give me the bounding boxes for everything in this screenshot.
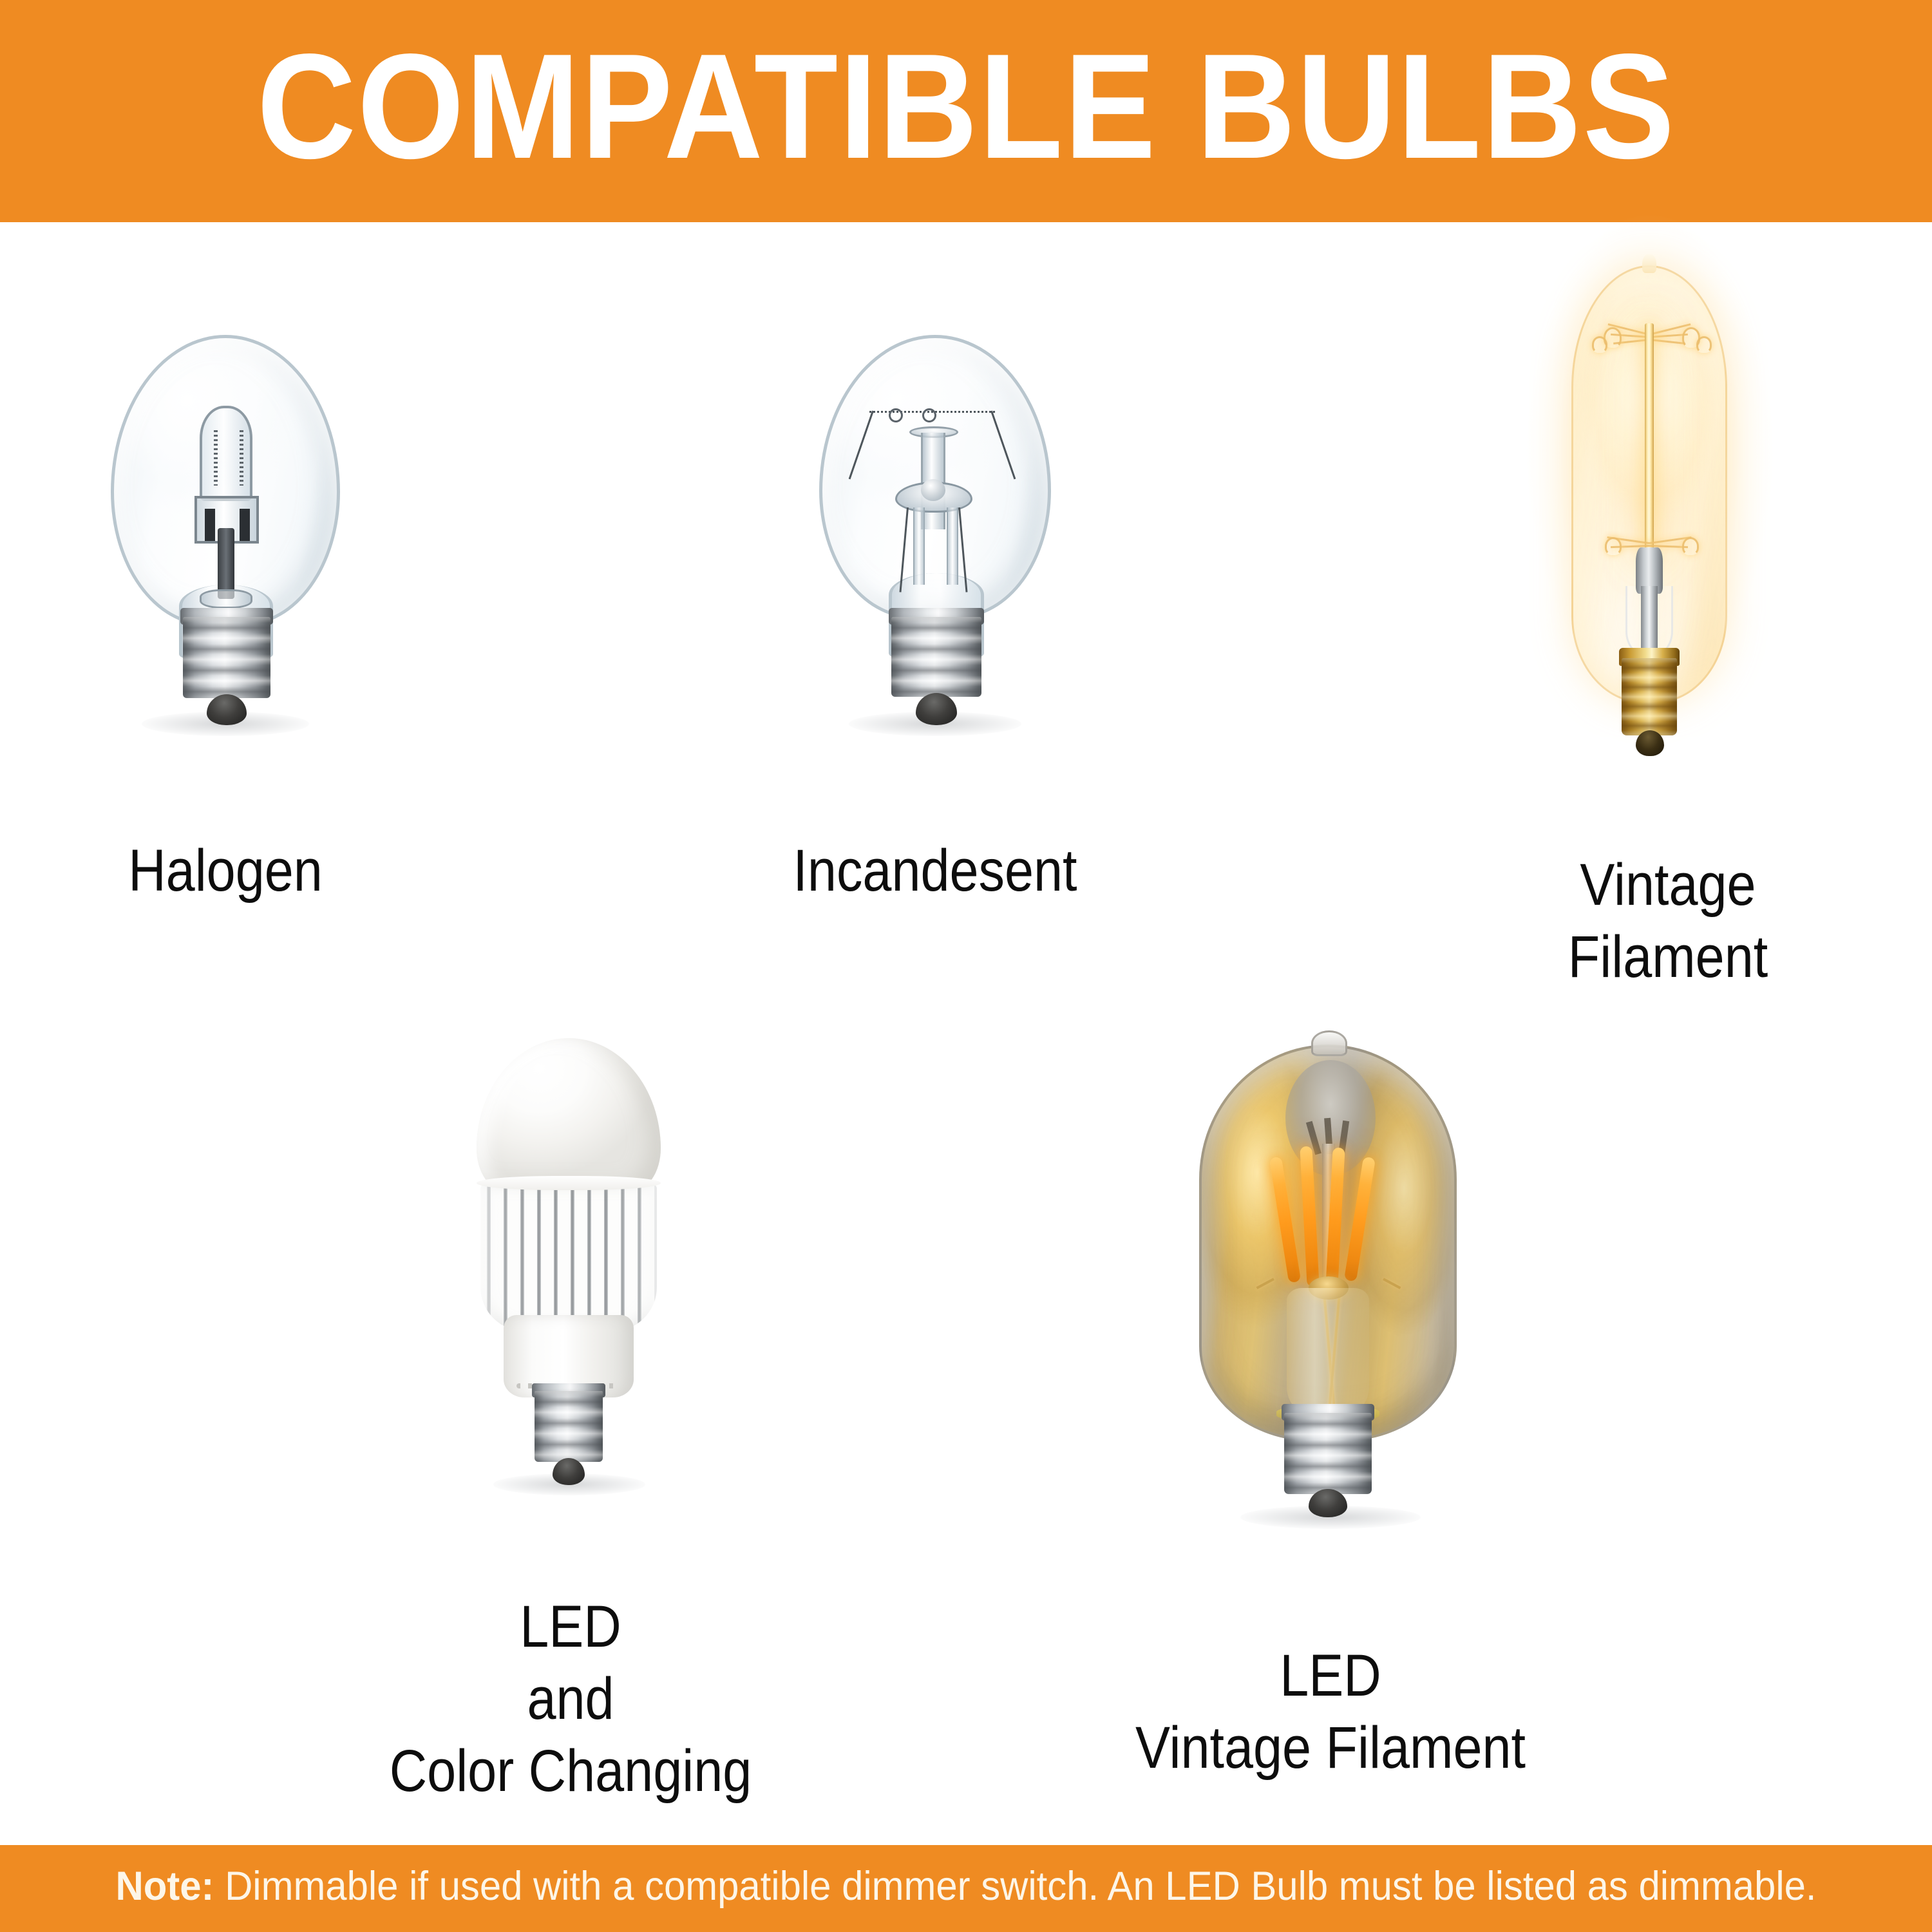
footer-note-label: Note: <box>115 1864 214 1909</box>
glass-tip-nub <box>1642 254 1656 273</box>
bulb-caption-vintage-filament: Vintage Filament <box>1498 849 1838 993</box>
header-banner: COMPATIBLE BULBS <box>0 0 1932 222</box>
page-title: COMPATIBLE BULBS <box>256 32 1675 191</box>
heatsink-fins <box>480 1182 657 1332</box>
filament-coil-left <box>214 430 218 486</box>
exhaust-tube-right <box>947 507 958 585</box>
bulb-caption-incandescent: Incandesent <box>771 835 1099 907</box>
glowing-filament-stem <box>1645 323 1654 560</box>
lead-wire-right <box>240 509 250 541</box>
screw-base <box>535 1391 603 1462</box>
screw-base <box>1284 1413 1372 1494</box>
base-contact-tip <box>1636 730 1664 756</box>
bulb-card-led-vintage-filament <box>1189 1024 1472 1539</box>
screw-base <box>891 617 981 697</box>
lower-glass-highlight <box>1287 1288 1369 1414</box>
led-bulb-icon <box>461 1038 680 1502</box>
bulb-card-vintage-filament <box>1553 251 1747 766</box>
bulb-card-incandescent <box>813 335 1057 747</box>
filament-loop <box>1605 537 1622 555</box>
footer-note-text: Dimmable if used with a compatible dimme… <box>214 1864 1816 1909</box>
brass-screw-base <box>1622 658 1677 735</box>
filament-loop <box>1592 336 1607 353</box>
bulb-card-led-color-changing <box>461 1038 680 1502</box>
glass-tip-nub <box>1311 1030 1347 1056</box>
bulb-card-halogen <box>103 335 348 747</box>
bulb-caption-halogen: Halogen <box>61 835 390 907</box>
filament-loop <box>1696 336 1712 353</box>
bulb-stem <box>218 528 234 599</box>
stem-glass-bead <box>921 479 945 501</box>
vintage-filament-bulb-icon <box>1553 251 1747 766</box>
incandescent-bulb-icon <box>813 335 1057 747</box>
filament-coil-right <box>240 430 243 486</box>
lead-wire-left <box>205 509 215 541</box>
filament-support-hook-left <box>889 408 903 422</box>
filament-loop <box>1682 537 1699 555</box>
base-contact-tip <box>916 693 957 725</box>
stem-base-disc <box>200 589 252 609</box>
base-contact-tip <box>553 1458 585 1485</box>
heatsink-top-rim <box>477 1176 661 1190</box>
halogen-bulb-icon <box>103 335 348 747</box>
exhaust-tube-left <box>913 507 925 585</box>
screw-base <box>183 617 270 698</box>
footer-note: Note: Dimmable if used with a compatible… <box>115 1866 1816 1911</box>
footer-banner: Note: Dimmable if used with a compatible… <box>0 1845 1932 1932</box>
bulb-caption-led-color-changing: LED and Color Changing <box>332 1591 808 1808</box>
base-contact-tip <box>207 694 247 725</box>
halogen-inner-capsule <box>200 406 252 501</box>
led-vintage-filament-bulb-icon <box>1189 1024 1472 1539</box>
bulb-caption-led-vintage-filament: LED Vintage Filament <box>1110 1640 1551 1784</box>
filament-support-hook-right <box>922 408 936 422</box>
frosted-diffuser-dome <box>477 1038 661 1191</box>
